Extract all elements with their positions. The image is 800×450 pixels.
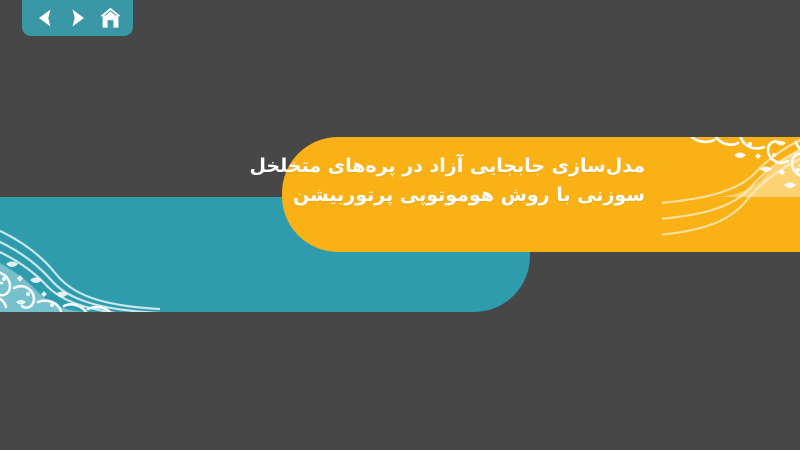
slide-navigation-bar — [22, 0, 133, 36]
slide-title-line-2: سوزنی با روش هوموتوپی پرتوربیشن — [300, 181, 645, 210]
triangle-left-icon — [36, 8, 54, 28]
previous-slide-button[interactable] — [31, 5, 59, 31]
home-icon — [99, 7, 122, 29]
home-slide-button[interactable] — [96, 5, 124, 31]
triangle-right-icon — [69, 8, 87, 28]
slide-title: مدل‌سازی جابجایی آزاد در پره‌های متخلخل … — [300, 152, 645, 210]
slide-title-line-1: مدل‌سازی جابجایی آزاد در پره‌های متخلخل — [300, 152, 645, 181]
presentation-slide: مدل‌سازی جابجایی آزاد در پره‌های متخلخل … — [0, 0, 800, 450]
next-slide-button[interactable] — [64, 5, 92, 31]
arabesque-corner-ornament-orange — [662, 137, 800, 252]
arabesque-corner-ornament-teal — [0, 202, 160, 312]
